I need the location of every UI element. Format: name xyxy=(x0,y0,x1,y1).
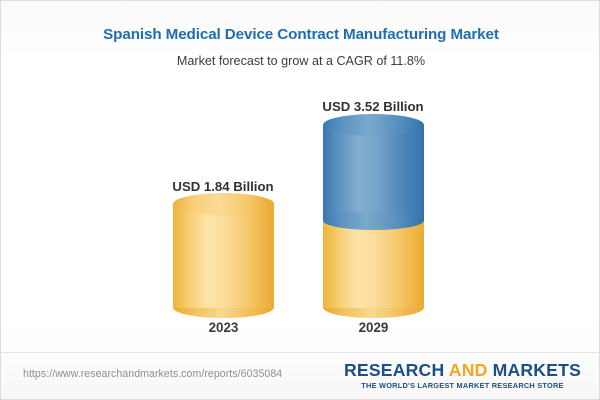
source-url[interactable]: https://www.researchandmarkets.com/repor… xyxy=(23,368,282,380)
cylinder-top-cap-2029 xyxy=(323,114,424,136)
cylinder-top-cap-2023 xyxy=(173,193,274,215)
bar-segment-2029-base xyxy=(323,221,424,308)
logo-wordmark: RESEARCH AND MARKETS xyxy=(344,361,581,380)
logo-tagline: THE WORLD'S LARGEST MARKET RESEARCH STOR… xyxy=(344,381,581,390)
bar-segment-2029-growth xyxy=(323,125,424,221)
axis-label-2029: 2029 xyxy=(323,320,424,335)
research-and-markets-logo[interactable]: RESEARCH AND MARKETS THE WORLD'S LARGEST… xyxy=(344,361,581,390)
logo-word-research: RESEARCH xyxy=(344,360,444,380)
footer-bar: https://www.researchandmarkets.com/repor… xyxy=(1,352,599,399)
cylinder-2023 xyxy=(173,204,274,308)
axis-label-2023: 2023 xyxy=(173,320,274,335)
cylinder-2029 xyxy=(323,125,424,308)
chart-plot-area: USD 1.84 Billion USD 3.52 Billion xyxy=(1,1,600,353)
logo-word-and: AND xyxy=(449,360,488,380)
bar-segment-2023-base xyxy=(173,204,274,308)
segment-divider-ellipse xyxy=(323,211,424,230)
value-label-2023: USD 1.84 Billion xyxy=(128,179,318,194)
logo-word-markets: MARKETS xyxy=(493,360,581,380)
infographic-card: Spanish Medical Device Contract Manufact… xyxy=(0,0,600,400)
value-label-2029: USD 3.52 Billion xyxy=(278,99,468,114)
